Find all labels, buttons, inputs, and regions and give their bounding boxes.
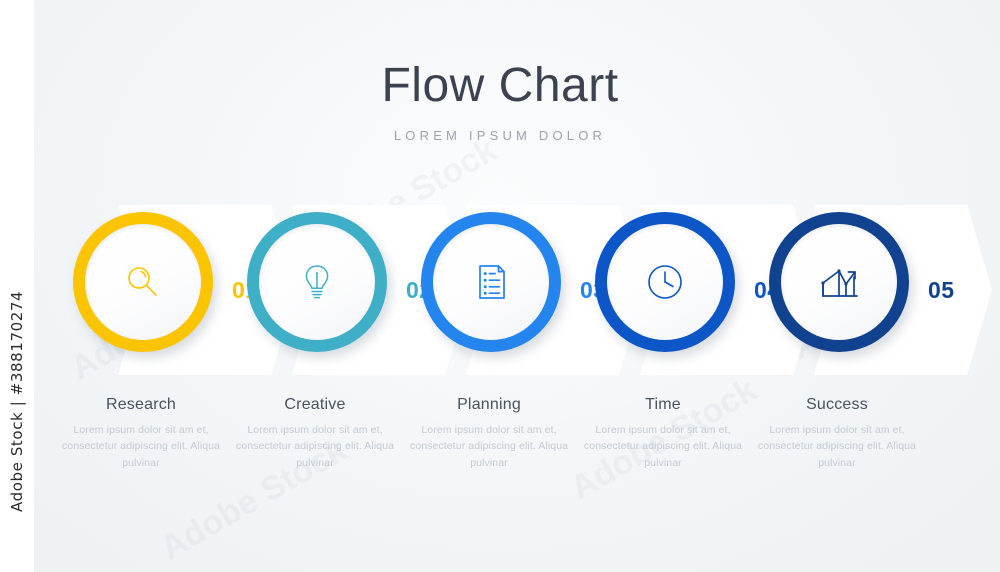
growth-chart-icon <box>816 260 862 304</box>
caption-2: Creative Lorem ipsum dolor sit am et, co… <box>225 396 405 471</box>
step-ring-3 <box>421 212 561 352</box>
step-ring-2 <box>247 212 387 352</box>
page-subtitle: LOREM IPSUM DOLOR <box>0 128 1000 143</box>
step-node-1[interactable] <box>66 205 236 375</box>
caption-3: Planning Lorem ipsum dolor sit am et, co… <box>399 396 579 471</box>
step-icon-wrap-2 <box>259 224 375 340</box>
caption-4: Time Lorem ipsum dolor sit am et, consec… <box>573 396 753 471</box>
step-node-2[interactable] <box>240 205 410 375</box>
step-icon-wrap-4 <box>607 224 723 340</box>
infographic-canvas: Adobe Stock Adobe Stock Adobe Stock Adob… <box>0 0 1000 572</box>
watermark-label: Adobe Stock | #388170274 <box>8 291 26 512</box>
header: Flow Chart LOREM IPSUM DOLOR <box>0 62 1000 143</box>
step-icon-wrap-1 <box>85 224 201 340</box>
step-ring-5 <box>769 212 909 352</box>
caption-title-4: Time <box>573 396 753 414</box>
caption-title-2: Creative <box>225 396 405 414</box>
step-node-3[interactable] <box>414 205 584 375</box>
step-ring-1 <box>73 212 213 352</box>
page-title: Flow Chart <box>0 62 1000 110</box>
caption-desc-5: Lorem ipsum dolor sit am et, consectetur… <box>747 422 927 471</box>
caption-desc-3: Lorem ipsum dolor sit am et, consectetur… <box>399 422 579 471</box>
caption-title-5: Success <box>747 396 927 414</box>
caption-desc-4: Lorem ipsum dolor sit am et, consectetur… <box>573 422 753 471</box>
clock-icon <box>643 260 687 304</box>
step-node-4[interactable] <box>588 205 758 375</box>
caption-desc-2: Lorem ipsum dolor sit am et, consectetur… <box>225 422 405 471</box>
caption-1: Research Lorem ipsum dolor sit am et, co… <box>51 396 231 471</box>
caption-title-1: Research <box>51 396 231 414</box>
step-icon-wrap-3 <box>433 224 549 340</box>
caption-title-3: Planning <box>399 396 579 414</box>
search-icon <box>121 260 165 304</box>
flow-steps: 01 02 <box>0 205 1000 375</box>
step-icon-wrap-5 <box>781 224 897 340</box>
step-number-5: 05 <box>928 277 955 304</box>
caption-5: Success Lorem ipsum dolor sit am et, con… <box>747 396 927 471</box>
lightbulb-icon <box>295 260 339 304</box>
document-list-icon <box>469 260 513 304</box>
step-node-5[interactable] <box>762 205 932 375</box>
caption-desc-1: Lorem ipsum dolor sit am et, consectetur… <box>51 422 231 471</box>
step-ring-4 <box>595 212 735 352</box>
